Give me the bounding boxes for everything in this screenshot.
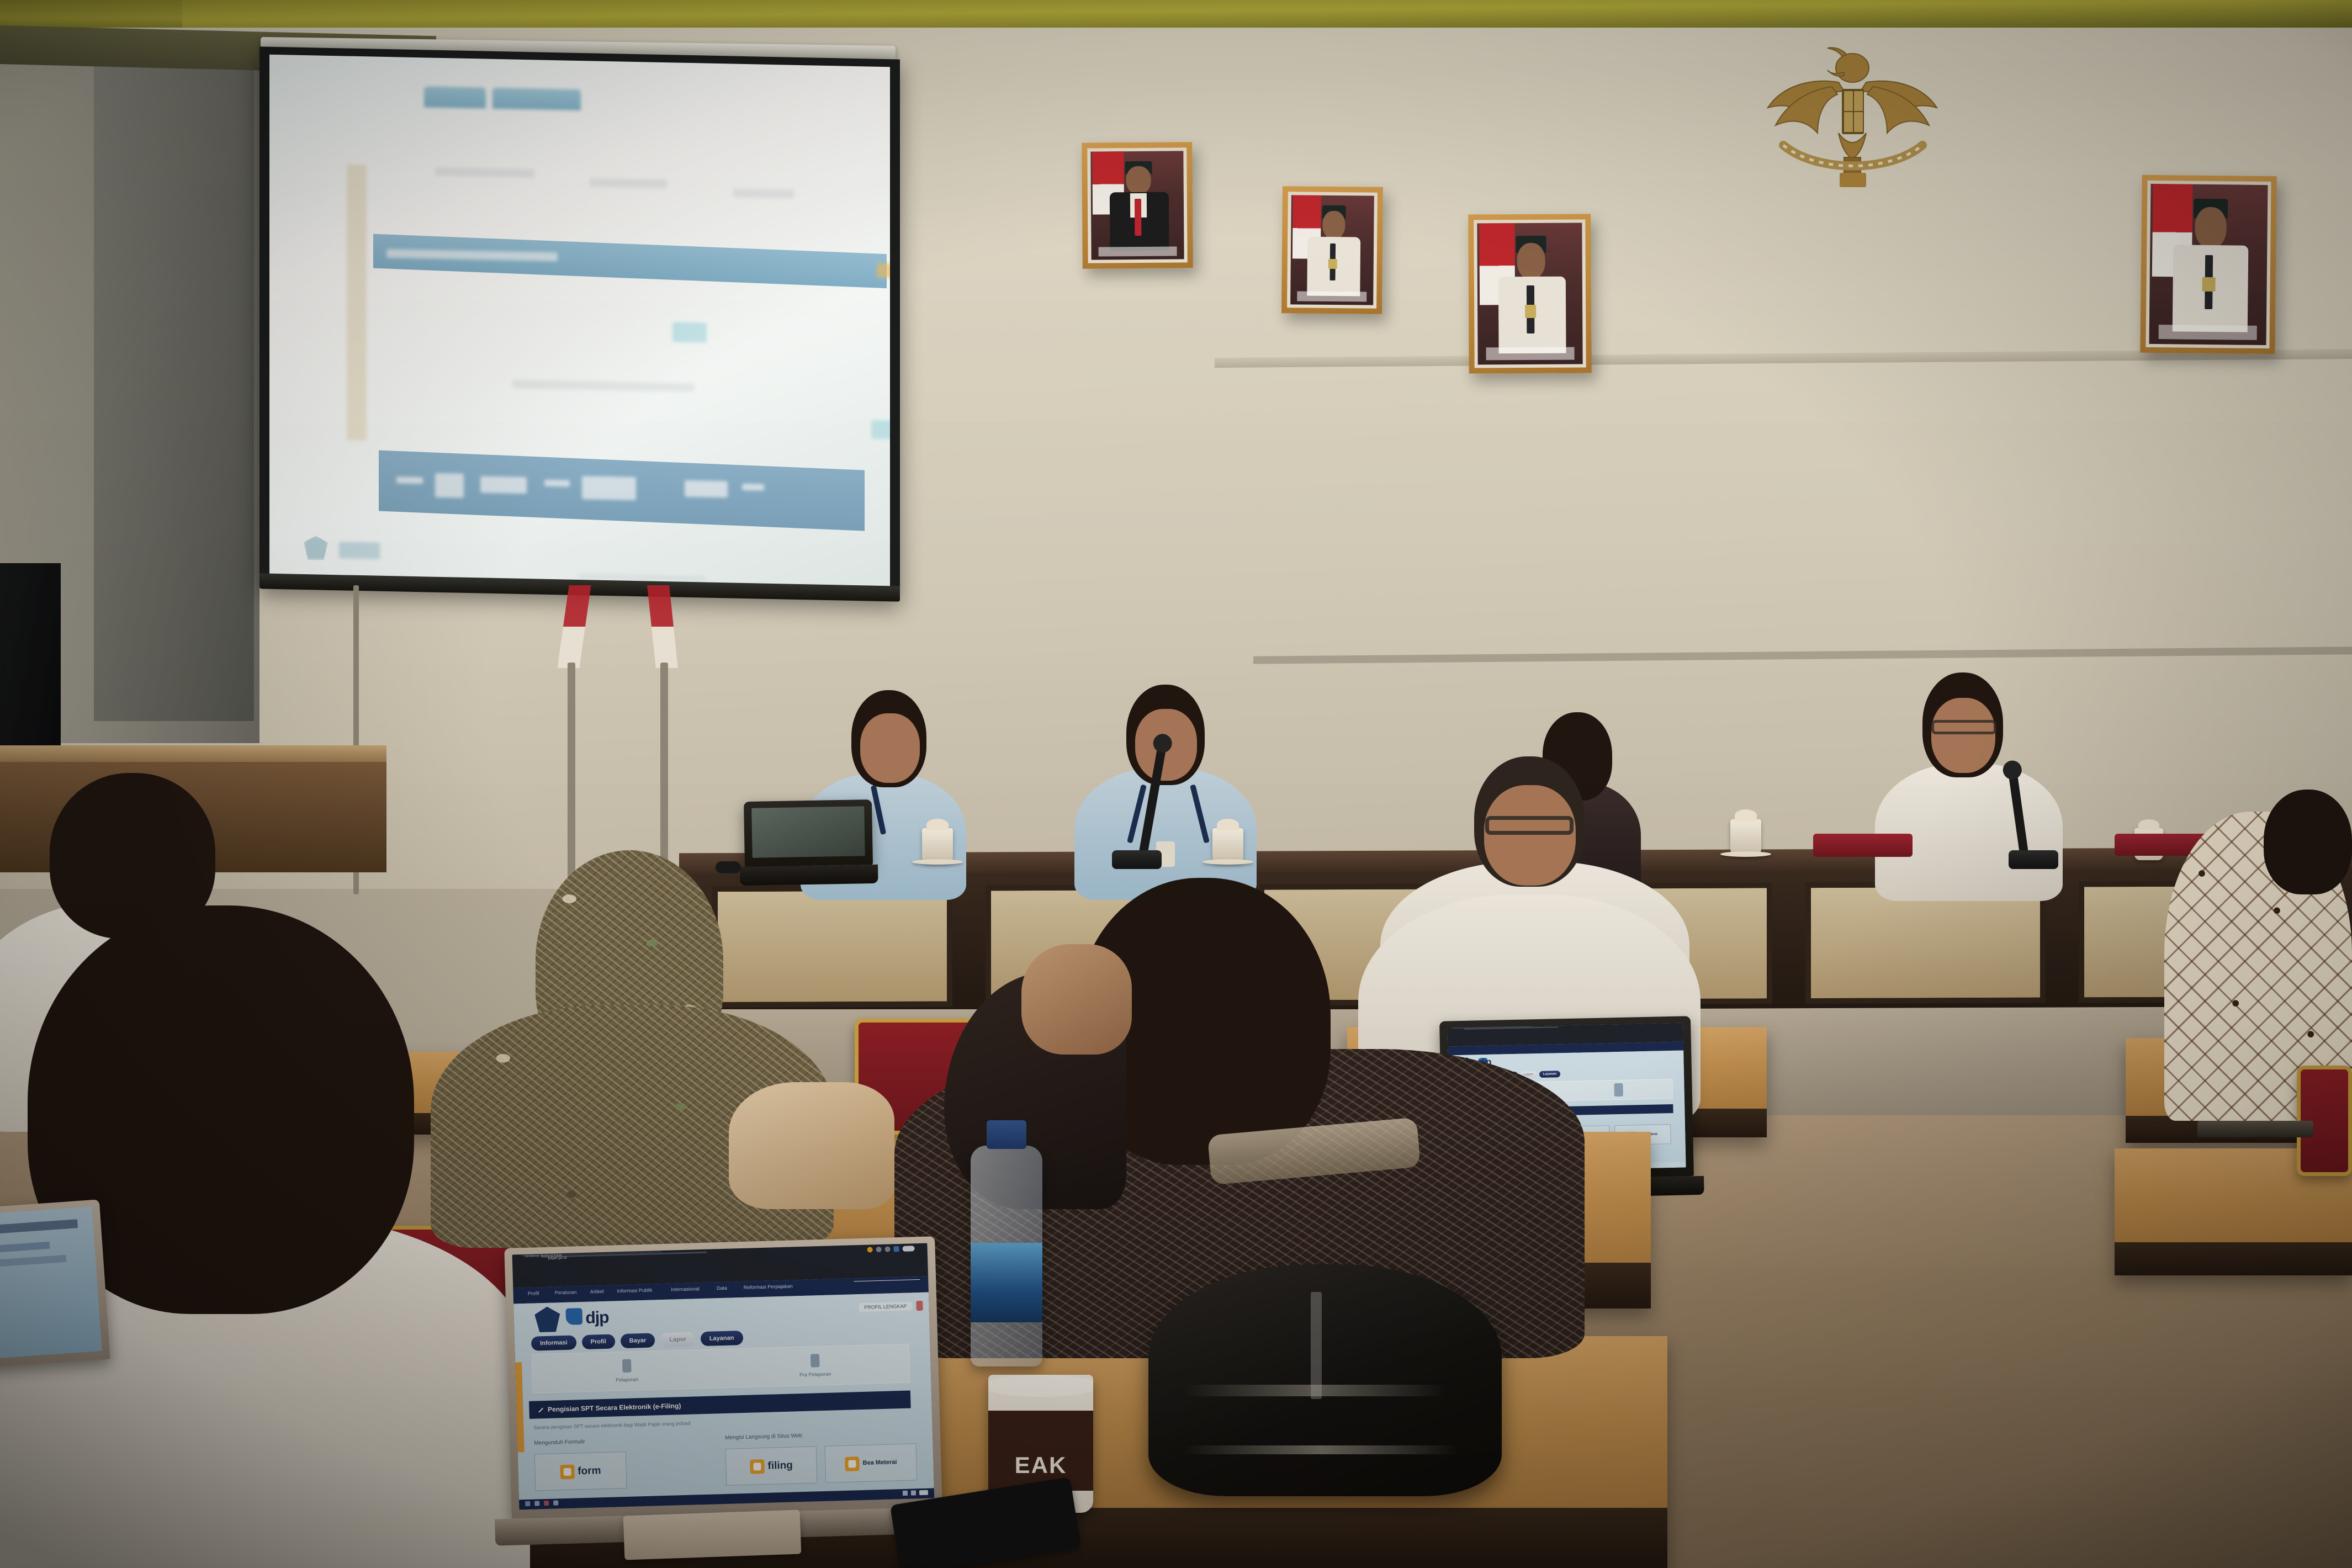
djp-efiling-banner: Pengisian SPT Secara Elektronik (e-Filin… xyxy=(529,1391,911,1419)
document-icon xyxy=(622,1359,632,1373)
page-side-accent xyxy=(515,1362,525,1452)
projector-screen xyxy=(259,46,900,600)
projected-col-tanggal xyxy=(685,480,728,498)
projected-sidebar xyxy=(347,165,367,441)
projected-tab-spt xyxy=(424,86,486,108)
djp-page-body: djp PROFIL LENGKAP Informasi Profil Baya… xyxy=(513,1292,934,1500)
flag-pole-right xyxy=(660,663,668,872)
cup-text-line2: EAK xyxy=(988,1452,1093,1479)
efiling-button[interactable]: filing xyxy=(725,1446,818,1486)
participant-laptop-left[interactable] xyxy=(0,1199,110,1368)
front-laptop-lid: pajak.go.id Direktorat Jenderal Pajak Pr… xyxy=(504,1236,942,1519)
clock[interactable] xyxy=(919,1490,928,1495)
teacup-saucer xyxy=(1720,851,1771,857)
projected-col-tahun xyxy=(480,476,527,494)
projected-note-text xyxy=(512,380,695,393)
extension-icon[interactable] xyxy=(867,1247,873,1252)
tab-informasi[interactable]: Informasi xyxy=(531,1335,576,1350)
taskbar-icon[interactable] xyxy=(534,1501,539,1506)
browser-extension-icons[interactable] xyxy=(867,1246,915,1252)
card-pra-pelaporan[interactable]: Pra Pelaporan xyxy=(721,1344,910,1387)
djp-logo-row: djp xyxy=(534,1307,535,1331)
bea-meterai-button[interactable]: Bea Meterai xyxy=(825,1443,917,1483)
left-laptop-row xyxy=(0,1255,67,1268)
extension-icon[interactable] xyxy=(885,1246,891,1252)
column-heading-unduh: Mengunduh Formulir xyxy=(534,1439,585,1447)
right-panelist-face xyxy=(1931,698,1995,773)
paper-document[interactable] xyxy=(623,1509,802,1560)
eform-label: form xyxy=(578,1465,601,1477)
nav-profil[interactable]: Profil xyxy=(528,1291,539,1299)
projected-col-no xyxy=(396,476,423,484)
djp-website-front: pajak.go.id Direktorat Jenderal Pajak Pr… xyxy=(512,1243,935,1510)
nav-data[interactable]: Data xyxy=(717,1285,727,1294)
djp-tab-bar: Informasi Profil Bayar Lapor Layanan xyxy=(531,1331,743,1351)
kemenkeu-logo-icon xyxy=(534,1306,560,1332)
user-avatar-icon[interactable] xyxy=(916,1300,923,1310)
account-profile-link[interactable]: PROFIL LENGKAP xyxy=(859,1301,913,1312)
participant-laptop-front[interactable]: pajak.go.id Direktorat Jenderal Pajak Pr… xyxy=(504,1236,942,1519)
projected-highlight-bar xyxy=(373,234,887,289)
projected-col-nomor xyxy=(582,476,636,500)
presiden-portrait xyxy=(1082,142,1193,268)
column-heading-isi-langsung: Mengisi Langsung di Situs Web xyxy=(725,1433,802,1441)
projected-secondary-button xyxy=(871,420,890,439)
site-search-input[interactable] xyxy=(854,1279,920,1282)
right-panelist-torso xyxy=(1875,763,2063,901)
tab-layanan[interactable]: Layanan xyxy=(701,1331,743,1346)
djp-banner-description: Sarana pengisian SPT secara elektronik b… xyxy=(533,1420,691,1430)
left-laptop-lid xyxy=(0,1199,110,1368)
projected-submit-button xyxy=(672,322,707,342)
backpack[interactable] xyxy=(1148,1264,1502,1496)
desk-edge xyxy=(2115,1242,2352,1275)
tab-bayar[interactable]: Bayar xyxy=(620,1333,655,1348)
projected-action-button xyxy=(877,263,890,278)
meeting-room-scene: djp Informasi Profil Bayar Lapor Layanan xyxy=(0,0,2352,1568)
wakil-bupati-portrait xyxy=(2140,175,2276,354)
projected-tab-row xyxy=(424,86,584,113)
nav-reformasi-perpajakan[interactable]: Reformasi Perpajakan xyxy=(744,1284,793,1293)
document-icon xyxy=(811,1354,820,1368)
nav-artikel[interactable]: Artikel xyxy=(590,1289,604,1297)
eform-button[interactable]: form xyxy=(534,1452,627,1491)
desk-item-right xyxy=(2197,1121,2313,1137)
teacup xyxy=(1212,828,1243,862)
water-bottle[interactable] xyxy=(971,1146,1042,1366)
projected-image xyxy=(269,55,890,592)
card-pelaporan-label: Pelaporan xyxy=(616,1377,638,1383)
taskbar-icon[interactable] xyxy=(553,1500,558,1505)
document-icon xyxy=(1614,1083,1623,1096)
tab-lapor[interactable]: Lapor xyxy=(660,1332,695,1347)
bea-meterai-label: Bea Meterai xyxy=(863,1459,897,1466)
teacup xyxy=(922,828,953,862)
hijab-participant-sleeve xyxy=(729,1082,894,1209)
projected-col-jenis xyxy=(435,473,464,498)
cup-text-line1: FFEE xyxy=(988,1416,1093,1443)
bupati-portrait xyxy=(1468,214,1592,373)
projected-djp-logo xyxy=(339,542,380,559)
e-form-icon xyxy=(560,1464,575,1479)
card-pra-pelaporan-label: Pra Pelaporan xyxy=(799,1371,831,1378)
red-desk-item xyxy=(1813,834,1913,857)
bottle-cap xyxy=(987,1120,1027,1149)
projected-col-status xyxy=(544,480,570,487)
front-laptop-screen: pajak.go.id Direktorat Jenderal Pajak Pr… xyxy=(512,1243,935,1510)
left-laptop-screen xyxy=(0,1206,102,1358)
backpack-strap xyxy=(1184,1445,1459,1455)
backpack-seam xyxy=(1311,1292,1321,1399)
teacup xyxy=(1730,819,1761,855)
left-laptop-nav xyxy=(0,1219,78,1234)
projected-field-label-1 xyxy=(435,167,534,178)
bottle-label xyxy=(971,1243,1042,1322)
left-laptop-row xyxy=(0,1241,50,1253)
djp-logo-text: djp xyxy=(585,1309,609,1328)
djp-card-row: Pelaporan Pra Pelaporan xyxy=(532,1344,910,1394)
system-tray-icon[interactable] xyxy=(903,1491,908,1496)
projected-col-aksi xyxy=(742,484,764,491)
nav-internasional[interactable]: Internasional xyxy=(671,1286,700,1295)
pencil-icon xyxy=(538,1407,543,1412)
extension-icon[interactable] xyxy=(894,1246,899,1252)
projected-kemenkeu-logo xyxy=(304,536,328,560)
tab-profil[interactable]: Profil xyxy=(581,1334,615,1349)
garuda-pancasila-emblem xyxy=(1761,25,1943,190)
projected-field-label-3 xyxy=(733,189,794,199)
card-pelaporan[interactable]: Pelaporan xyxy=(532,1349,722,1392)
nav-peraturan[interactable]: Peraturan xyxy=(555,1290,577,1298)
right-panelist-glasses xyxy=(1931,720,1996,734)
djp-logo-mark xyxy=(565,1308,582,1325)
start-icon[interactable] xyxy=(525,1501,530,1506)
center-participant-hand xyxy=(1021,944,1132,1055)
left-wall-corner xyxy=(94,53,254,721)
nav-informasi-publik[interactable]: Informasi Publik xyxy=(617,1288,652,1296)
extension-icon[interactable] xyxy=(876,1247,882,1252)
profile-avatar[interactable] xyxy=(903,1246,915,1252)
wakil-presiden-portrait xyxy=(1281,186,1383,314)
taskbar-icon[interactable] xyxy=(544,1501,549,1506)
projected-tab-registrasi xyxy=(492,88,581,110)
system-tray-icon[interactable] xyxy=(911,1490,916,1495)
cup-rim xyxy=(988,1375,1093,1397)
djp-banner-text: Pengisian SPT Secara Elektronik (e-Filin… xyxy=(548,1402,681,1413)
bea-meterai-icon xyxy=(845,1456,860,1471)
e-filing-icon xyxy=(750,1459,765,1474)
right-participant-head xyxy=(2264,790,2352,894)
microphone-base xyxy=(2009,850,2058,869)
panelist-face xyxy=(860,713,920,783)
projected-field-label-2 xyxy=(590,178,667,188)
efiling-label: filing xyxy=(767,1459,793,1472)
